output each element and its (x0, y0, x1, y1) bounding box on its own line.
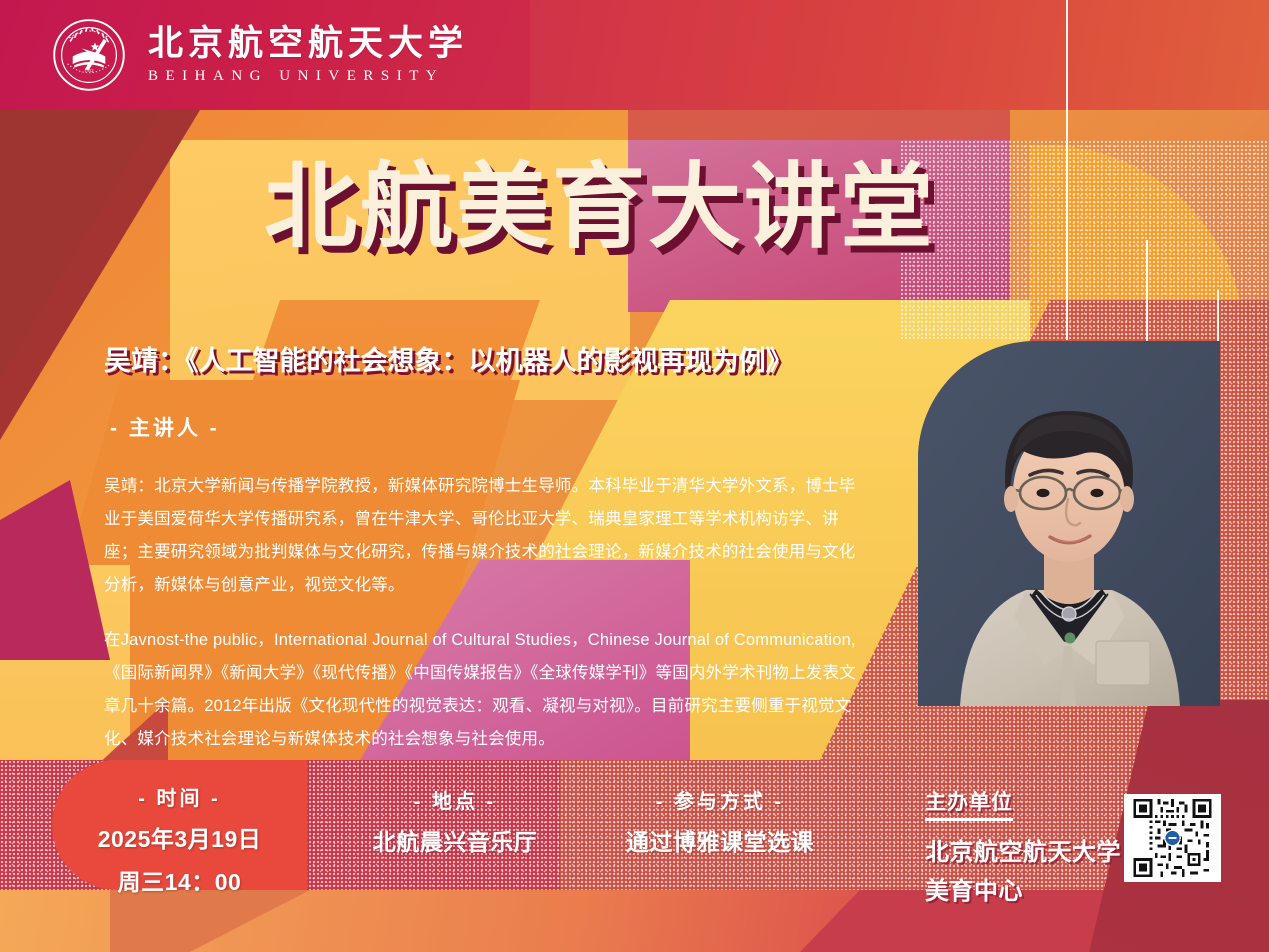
wechat-qr-code-icon[interactable] (1124, 794, 1221, 882)
bio-paragraph-1: 吴靖：北京大学新闻与传播学院教授，新媒体研究院博士生导师。本科毕业于清华大学外文… (104, 470, 864, 602)
svg-text:1952: 1952 (85, 68, 94, 73)
university-name-cn: 北京航空航天大学 (148, 25, 468, 64)
speaker-biography: 吴靖：北京大学新闻与传播学院教授，新媒体研究院博士生导师。本科毕业于清华大学外文… (104, 470, 864, 756)
join-heading: - 参与方式 - (570, 785, 870, 814)
poster-main-title: 北航美育大讲堂 (264, 157, 936, 257)
join-info: - 参与方式 - 通过博雅课堂选课 (570, 785, 870, 857)
join-value: 通过博雅课堂选课 (570, 823, 870, 857)
lecture-title: 吴靖：《人工智能的社会想象：以机器人的影视再现为例》 (104, 339, 793, 378)
poster-header: 1952 北京航空航天大学 BEIHANG UNIVERSITY (0, 0, 1269, 110)
time-date: 2025年3月19日 (52, 820, 307, 854)
place-value: 北航晨兴音乐厅 (320, 823, 590, 857)
bio-paragraph-2: 在Javnost-the public，International Journa… (104, 624, 864, 756)
organizer-heading: 主办单位 (925, 786, 1013, 821)
poster-canvas: 1952 北京航空航天大学 BEIHANG UNIVERSITY 北航美育大讲堂… (0, 0, 1269, 952)
university-name-group: 北京航空航天大学 BEIHANG UNIVERSITY (148, 25, 468, 85)
organizer-line-2: 美育中心 (925, 871, 1121, 906)
time-heading: - 时间 - (52, 782, 307, 811)
time-weekday: 周三14：00 (52, 863, 307, 897)
place-info: - 地点 - 北航晨兴音乐厅 (320, 785, 590, 857)
beihang-university-seal-icon: 1952 (52, 18, 126, 92)
university-name-en: BEIHANG UNIVERSITY (148, 68, 468, 85)
organizer-line-1: 北京航空航天大学 (925, 832, 1121, 867)
speaker-section-label: - 主讲人 - (110, 412, 220, 442)
time-info-text: - 时间 - 2025年3月19日 周三14：00 (52, 782, 307, 897)
speaker-portrait-photo (918, 341, 1220, 706)
organizer-info: 主办单位 北京航空航天大学 美育中心 (925, 786, 1121, 906)
place-heading: - 地点 - (320, 785, 590, 814)
